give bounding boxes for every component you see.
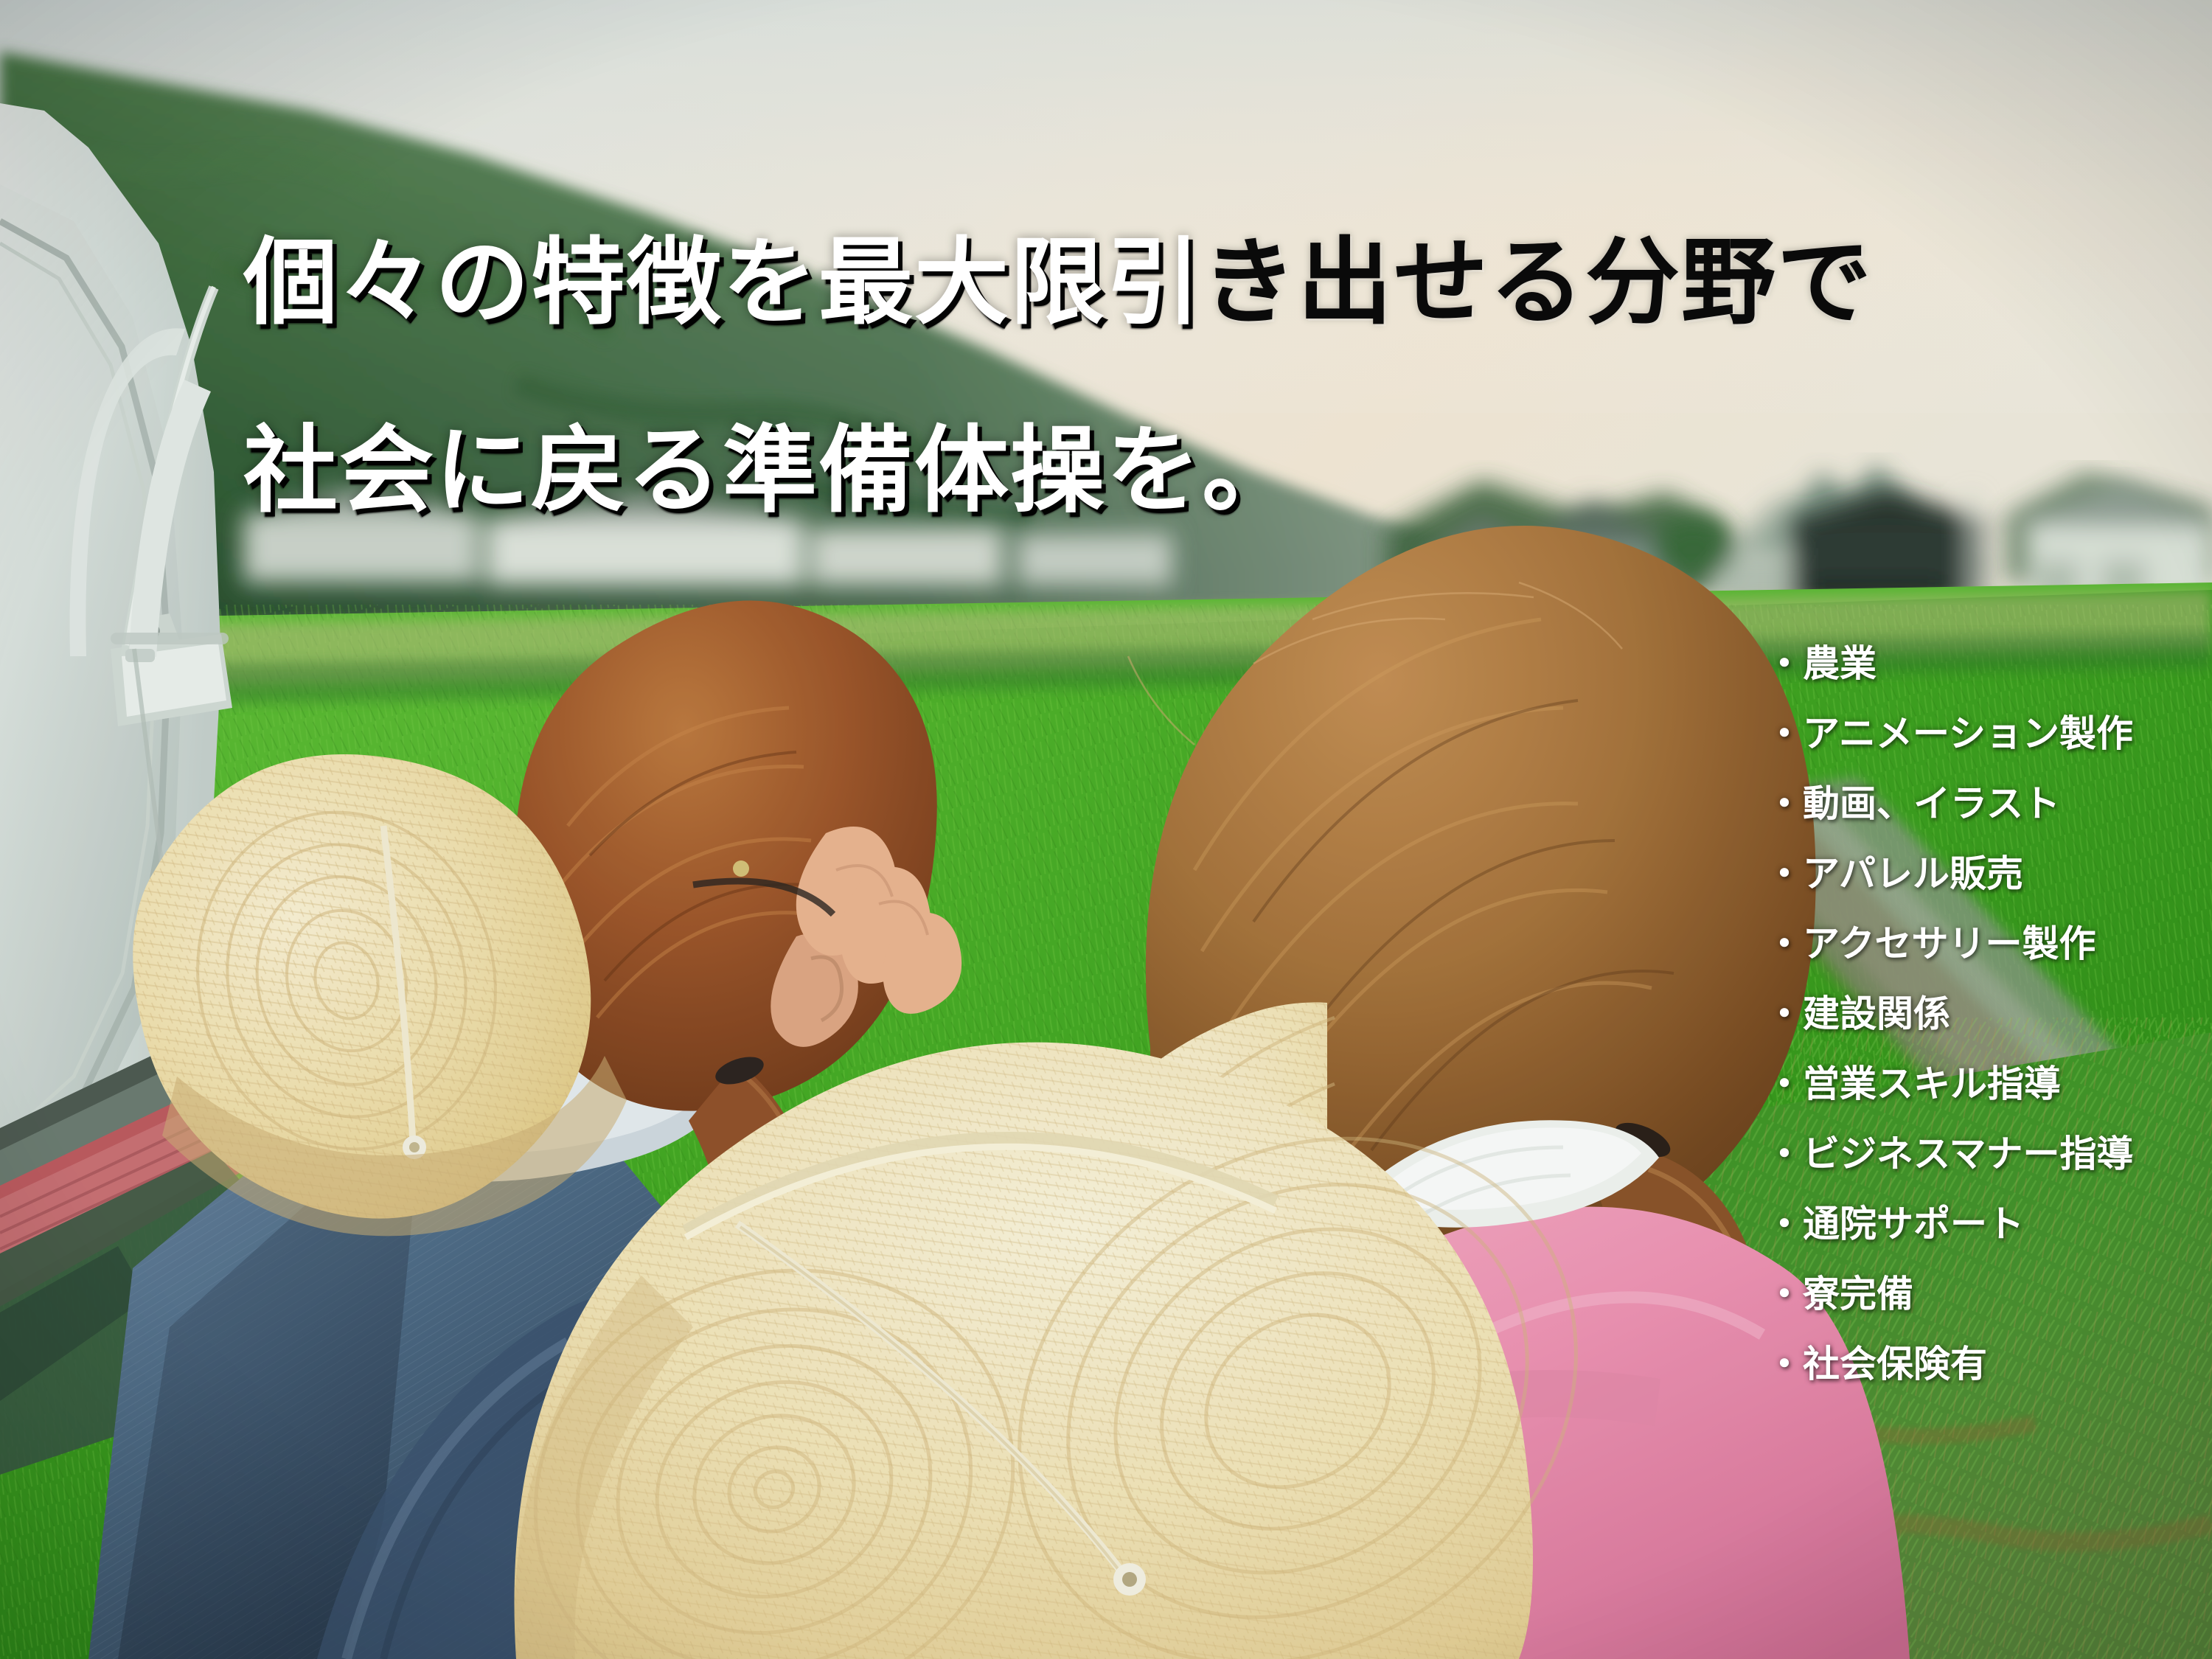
list-item: ・建設関係 bbox=[1766, 995, 2212, 1032]
list-item: ・営業スキル指導 bbox=[1766, 1065, 2212, 1102]
poster-canvas: 個々の特徴を最大限引き出せる分野で 社会に戻る準備体操を。 ・農業 ・アニメーシ… bbox=[0, 0, 2212, 1659]
list-item: ・アクセサリー製作 bbox=[1766, 925, 2212, 962]
job-category-list: ・農業 ・アニメーション製作 ・動画、イラスト ・アパレル販売 ・アクセサリー製… bbox=[1766, 645, 2212, 1382]
list-item: ・アニメーション製作 bbox=[1766, 715, 2212, 752]
list-item: ・寮完備 bbox=[1766, 1276, 2212, 1312]
list-item: ・社会保険有 bbox=[1766, 1346, 2212, 1382]
list-item: ・通院サポート bbox=[1766, 1206, 2212, 1242]
list-item: ・農業 bbox=[1766, 645, 2212, 682]
list-item: ・アパレル販売 bbox=[1766, 855, 2212, 892]
list-item: ・ビジネスマナー指導 bbox=[1766, 1135, 2212, 1172]
list-item: ・動画、イラスト bbox=[1766, 785, 2212, 822]
